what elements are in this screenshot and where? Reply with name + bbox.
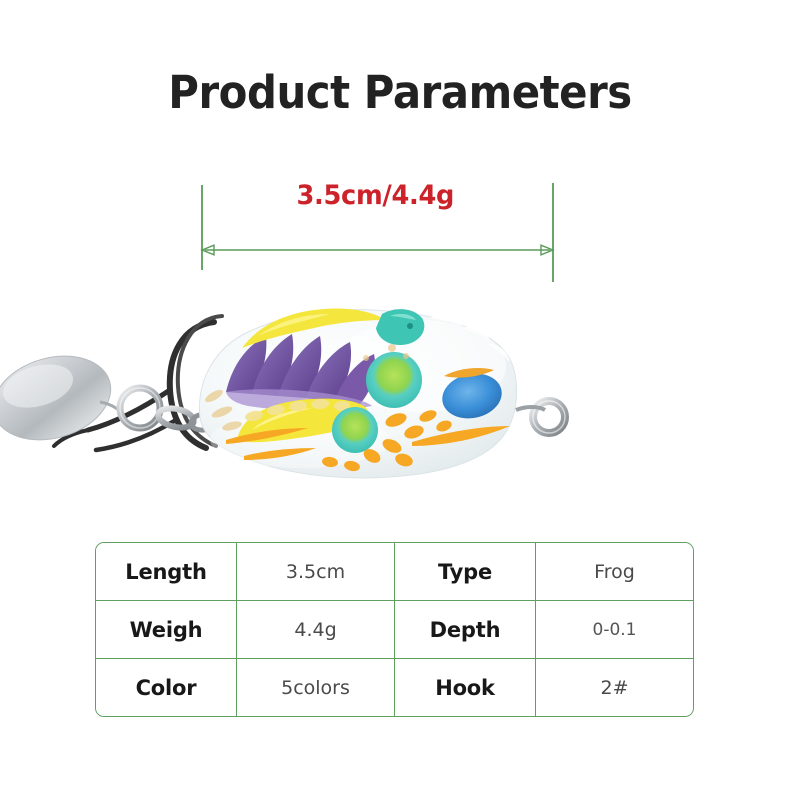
page-title: Product Parameters — [28, 70, 772, 115]
spec-label-type: Type — [395, 543, 536, 601]
spec-table: Length 3.5cm Type Frog Weigh 4.4g Depth … — [95, 542, 694, 717]
product-image — [0, 270, 800, 520]
spot-green-upper — [366, 352, 422, 408]
spec-value-color: 5colors — [237, 659, 395, 716]
spec-label-color: Color — [96, 659, 237, 716]
spec-value-weigh: 4.4g — [237, 601, 395, 659]
lure-illustration — [0, 270, 800, 520]
line-tie-eye — [516, 401, 565, 433]
spec-label-hook: Hook — [395, 659, 536, 716]
spec-value-type: Frog — [536, 543, 693, 601]
spec-label-depth: Depth — [395, 601, 536, 659]
spec-label-length: Length — [96, 543, 237, 601]
spec-value-depth: 0-0.1 — [536, 601, 693, 659]
lure-body — [199, 308, 516, 477]
product-parameters-page: Product Parameters 3.5cm/4.4g — [0, 0, 800, 800]
table-row: Weigh 4.4g Depth 0-0.1 — [96, 601, 693, 659]
spec-label-weigh: Weigh — [96, 601, 237, 659]
spinner-blade — [0, 343, 124, 453]
spec-value-hook: 2# — [536, 659, 693, 716]
table-row: Length 3.5cm Type Frog — [96, 543, 693, 601]
spot-green-lower — [332, 407, 378, 453]
spec-value-length: 3.5cm — [237, 543, 395, 601]
table-row: Color 5colors Hook 2# — [96, 659, 693, 716]
